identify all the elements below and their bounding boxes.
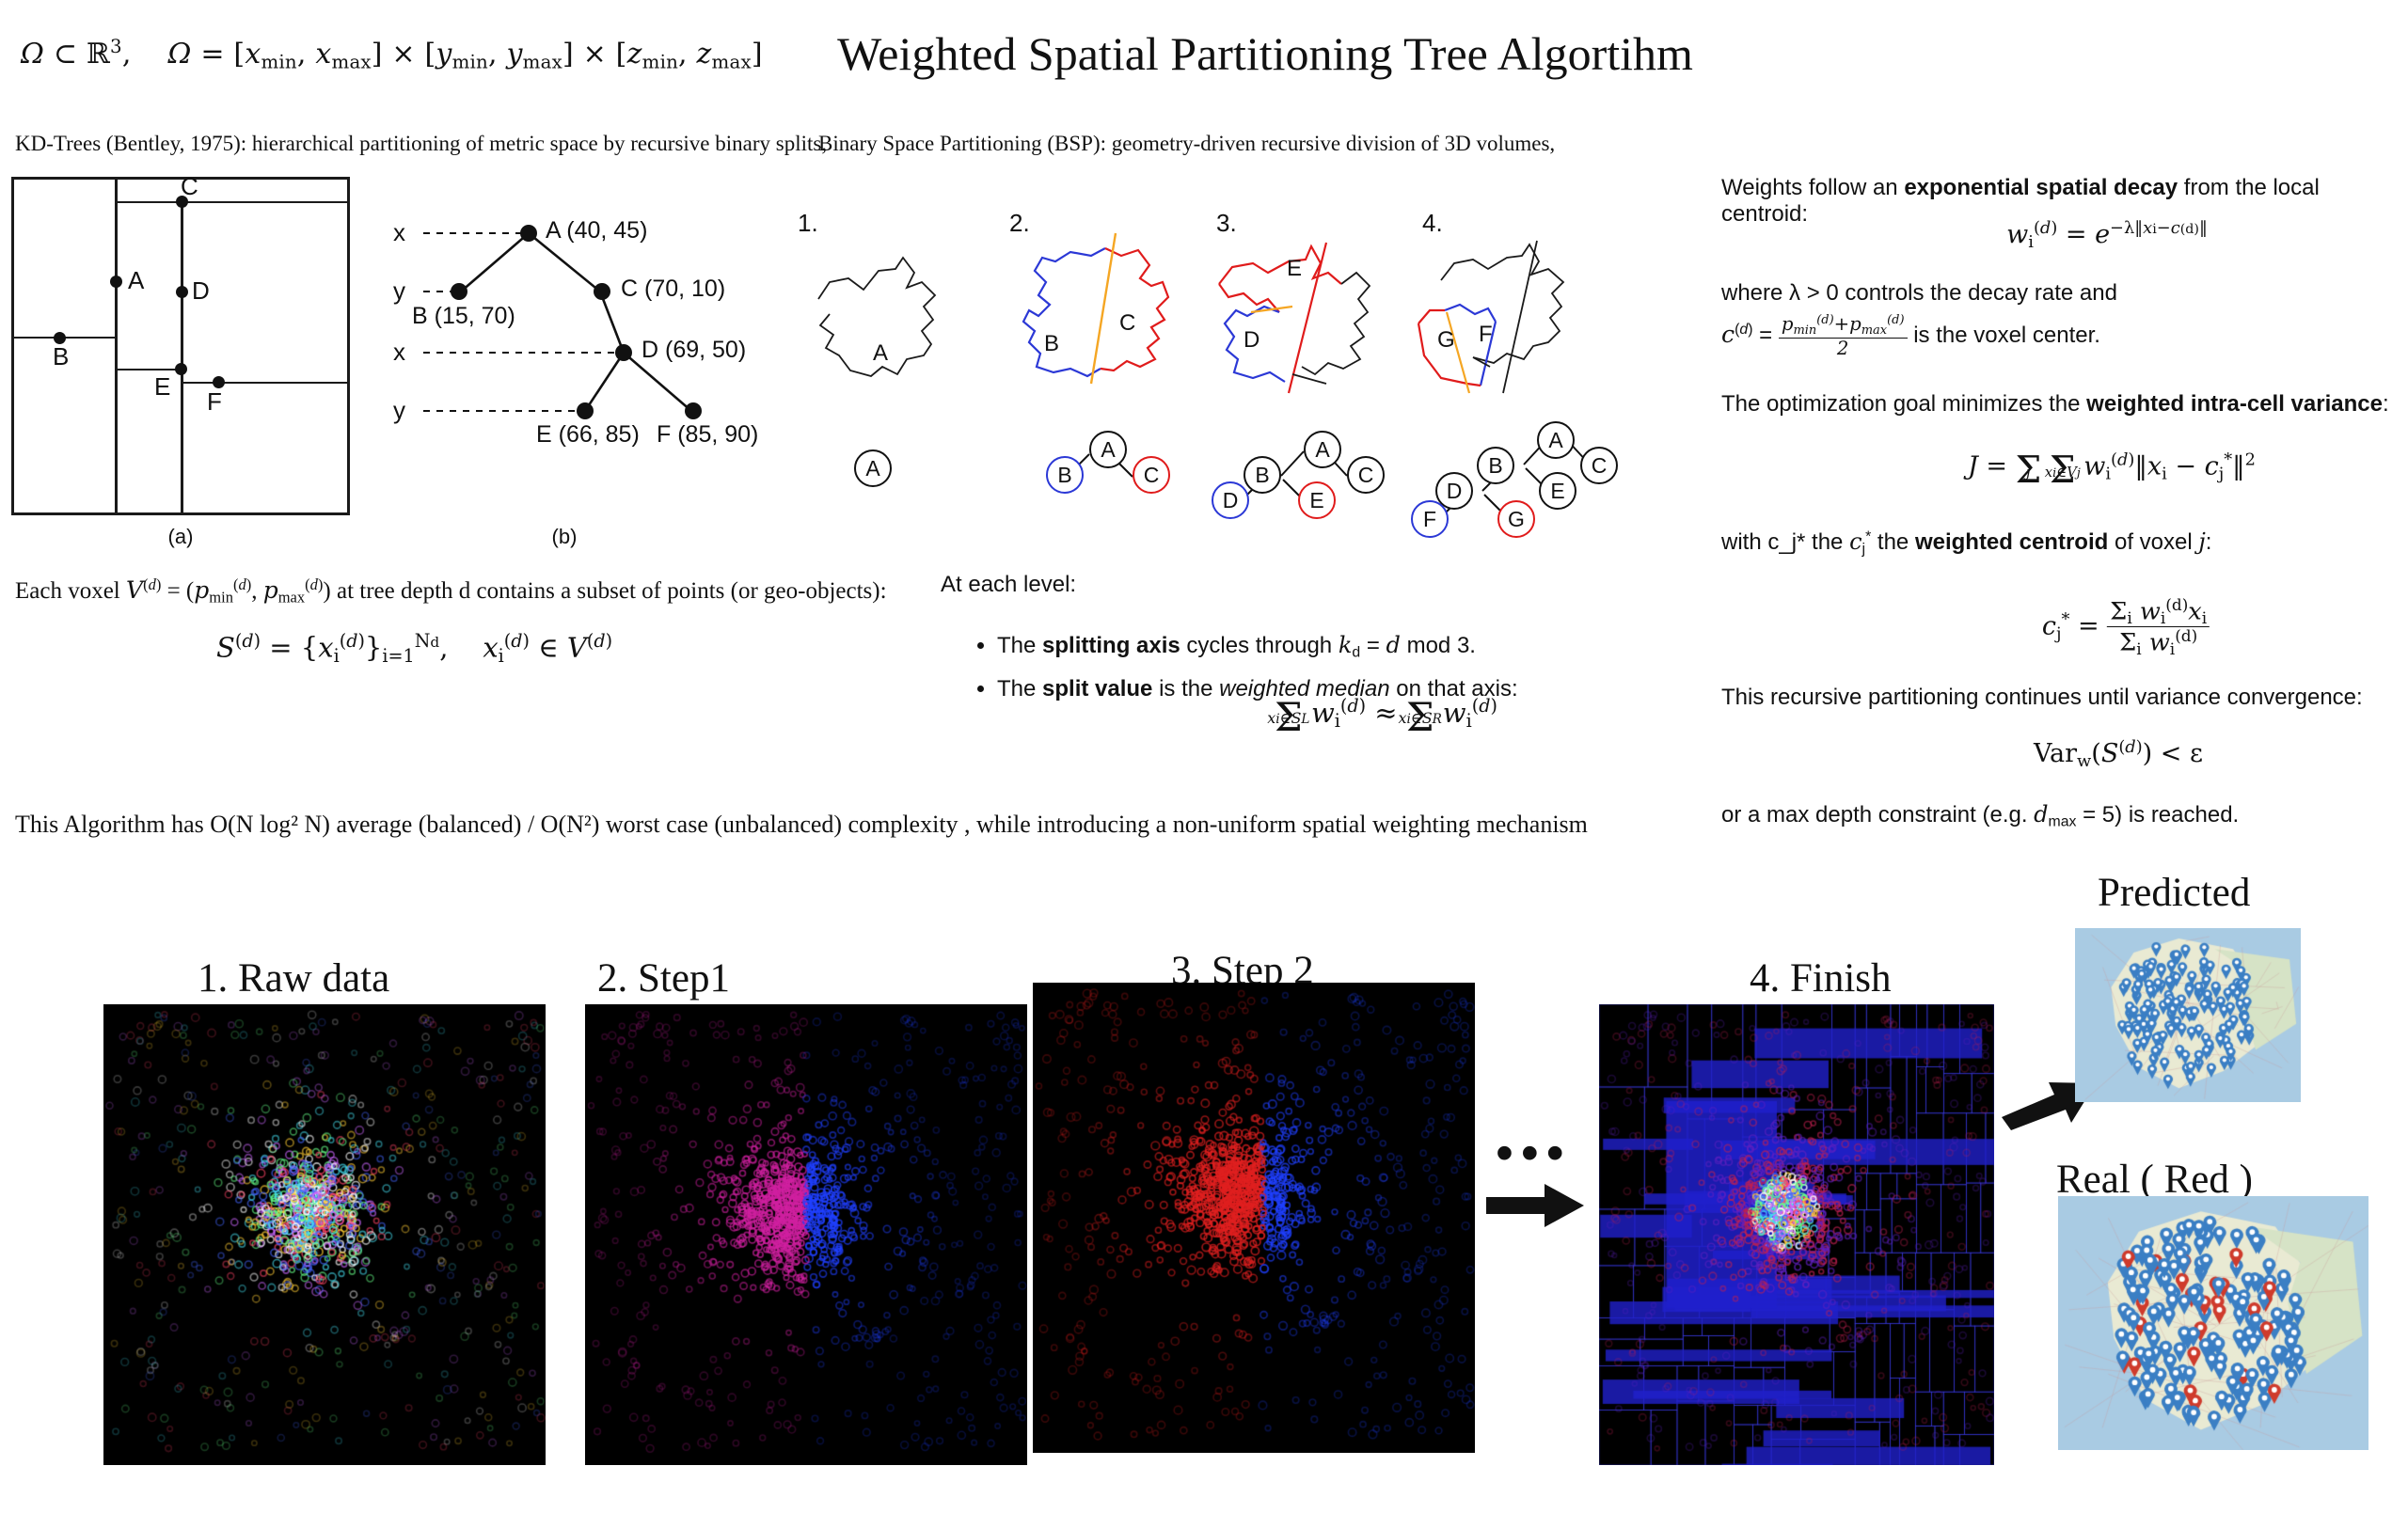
bsp-step-3-region-d: D xyxy=(1244,327,1259,354)
bsp-step-2-node-b: B xyxy=(1046,456,1084,494)
voxel-center-post: is the voxel center. xyxy=(1913,323,2100,348)
scatter-raw-data xyxy=(103,1004,546,1465)
list-item: The splitting axis cycles through kd = d… xyxy=(997,632,1518,661)
optimization-goal-text: The optimization goal minimizes the weig… xyxy=(1721,391,2389,418)
ellipsis-indicator: ••• xyxy=(1496,1124,1572,1182)
weighted-centroid-text: with c_j* the cj* the weighted centroid … xyxy=(1721,528,2211,558)
voxel-set-equation: S(d) = {xi(d)}i=1Nd, xi(d) ∈ V(d) xyxy=(216,630,612,667)
partition-label-c: C xyxy=(181,172,198,201)
bsp-step-4-node-c: C xyxy=(1580,447,1618,484)
weighted-median-equation: Σxi∈SL wi(d) ≈ Σxi∈SR wi(d) xyxy=(1275,694,1497,740)
tree-node-e: E (66, 85) xyxy=(536,421,640,449)
scatter-step2 xyxy=(1033,983,1475,1453)
bsp-step-3-node-a: A xyxy=(1304,431,1341,468)
bsp-step-3-node-d: D xyxy=(1212,481,1249,519)
bsp-caption: Binary Space Partitioning (BSP): geometr… xyxy=(818,132,1555,156)
objective-equation: J = Σj Σxi∈Vj wi(d)‖xi − cj*‖2 xyxy=(1968,449,2256,492)
voxel-text-post: at tree depth d contains a subset of poi… xyxy=(331,578,887,604)
bsp-step-2-region-b: B xyxy=(1044,331,1059,357)
kd-tree-caption: KD-Trees (Bentley, 1975): hierarchical p… xyxy=(15,132,827,156)
scatter-canvas-step2 xyxy=(1033,983,1475,1453)
real-map-canvas xyxy=(2058,1196,2368,1450)
bsp-step-4-node-a: A xyxy=(1537,421,1575,459)
tree-axis-x-0: x xyxy=(393,218,405,247)
voxel-text-pre: Each voxel xyxy=(15,578,126,604)
bsp-step-1-region-a: A xyxy=(873,340,888,367)
max-depth-text: or a max depth constraint (e.g. dmax = 5… xyxy=(1721,801,2239,830)
bsp-step-4-region-f: F xyxy=(1479,322,1493,348)
tree-node-c: C (70, 10) xyxy=(621,276,725,303)
scatter-finish xyxy=(1599,1004,1994,1465)
bullet-0-post: cycles through kd = d mod 3. xyxy=(1180,633,1476,658)
figure-caption-4: 4. Finish xyxy=(1750,955,1892,1001)
kd-partition-diagram: A B C D E F xyxy=(11,177,350,515)
variance-equation: Varw(S(d)) < ε xyxy=(2034,737,2203,771)
bsp-step-2-node-c: C xyxy=(1133,456,1170,494)
bullet-0-pre: The xyxy=(997,633,1042,658)
partition-label-e: E xyxy=(154,372,170,402)
centroid-post: of voxel j: xyxy=(2108,529,2211,555)
figure-caption-2: 2. Step1 xyxy=(597,955,730,1001)
tree-node-d: D (69, 50) xyxy=(642,337,746,364)
predicted-map xyxy=(2075,928,2301,1102)
bsp-step-4-shape xyxy=(1402,226,1637,414)
opt-goal-bold: weighted intra-cell variance xyxy=(2086,391,2383,417)
scatter-canvas-raw xyxy=(103,1004,546,1465)
bsp-step-3-node-e: E xyxy=(1298,481,1336,519)
centroid-equation: cj* = Σi wi(d)xi Σi wi(d) xyxy=(2042,596,2210,658)
predicted-map-canvas xyxy=(2075,928,2301,1102)
partition-label-b: B xyxy=(53,342,69,371)
tree-axis-y-3: y xyxy=(393,396,405,425)
bsp-step-2-node-a: A xyxy=(1089,431,1127,468)
kd-tree-diagram: x y x y A (40, 45) B (15, 70) C (70, 10)… xyxy=(357,216,771,498)
figure-caption-1: 1. Raw data xyxy=(198,955,389,1001)
weights-decay-pre: Weights follow an xyxy=(1721,175,1904,200)
partition-label-a: A xyxy=(128,266,144,295)
bsp-step-1-shape xyxy=(792,233,980,412)
bsp-step-4-node-e: E xyxy=(1539,472,1576,510)
bsp-step-4-node-f: F xyxy=(1411,500,1449,538)
tree-axis-x-2: x xyxy=(393,338,405,367)
tree-node-b: B (15, 70) xyxy=(412,303,515,330)
tree-node-a: A (40, 45) xyxy=(546,217,647,244)
page-title-text: Weighted Spatial Partitioning Tree Algor… xyxy=(837,26,1693,81)
bsp-step-3-region-e: E xyxy=(1287,256,1302,282)
bsp-step-1-node-a: A xyxy=(854,449,892,487)
arrow-right-icon xyxy=(1486,1180,1590,1237)
opt-goal-post: : xyxy=(2383,391,2389,417)
page-title: Weighted Spatial Partitioning Tree Algor… xyxy=(0,26,2408,81)
bsp-step-3-node-c: C xyxy=(1347,456,1385,494)
scatter-canvas-finish xyxy=(1599,1004,1994,1465)
bullet-1-pre: The xyxy=(997,676,1042,701)
scatter-canvas-step1 xyxy=(585,1004,1027,1465)
scatter-step1 xyxy=(585,1004,1027,1465)
bullet-0-bold: splitting axis xyxy=(1042,633,1180,658)
weights-decay-bold: exponential spatial decay xyxy=(1904,175,2178,200)
recursive-partitioning-text: This recursive partitioning continues un… xyxy=(1721,685,2363,711)
weight-equation: wi(d) = e−λ‖xi−c(d)‖ xyxy=(2006,218,2208,252)
bsp-step-3-shape xyxy=(1195,226,1430,414)
bsp-step-3-node-b: B xyxy=(1244,456,1281,494)
predicted-map-label: Predicted xyxy=(2098,870,2250,916)
at-each-level-label: At each level: xyxy=(941,572,1076,598)
bsp-step-4-node-b: B xyxy=(1477,447,1514,484)
tree-node-f: F (85, 90) xyxy=(657,421,758,449)
voxel-definition-text: Each voxel V(d) = (pmin(d), pmax(d)) at … xyxy=(15,575,887,607)
partition-label-d: D xyxy=(192,276,210,306)
bsp-step-2-region-c: C xyxy=(1119,310,1135,337)
partition-label-f: F xyxy=(207,387,222,417)
opt-goal-pre: The optimization goal minimizes the xyxy=(1721,391,2086,417)
bsp-step-4-region-g: G xyxy=(1437,327,1455,354)
decay-rate-text: where λ > 0 controls the decay rate and xyxy=(1721,280,2117,307)
real-map xyxy=(2058,1196,2368,1450)
voxel-center-text: c(d) = pmin(d)+pmax(d) 2 is the voxel ce… xyxy=(1721,314,2100,358)
complexity-statement: This Algorithm has O(N log² N) average (… xyxy=(15,811,1588,839)
centroid-bold: weighted centroid xyxy=(1915,529,2108,555)
bsp-step-2-shape xyxy=(997,228,1213,416)
figure-a-caption: (a) xyxy=(11,525,350,549)
bullet-1-bold: split value xyxy=(1042,676,1152,701)
centroid-pre: with c_j* the xyxy=(1721,529,1849,555)
figure-b-caption: (b) xyxy=(357,525,771,549)
tree-axis-y-1: y xyxy=(393,276,405,306)
bsp-step-4-node-g: G xyxy=(1497,500,1535,538)
